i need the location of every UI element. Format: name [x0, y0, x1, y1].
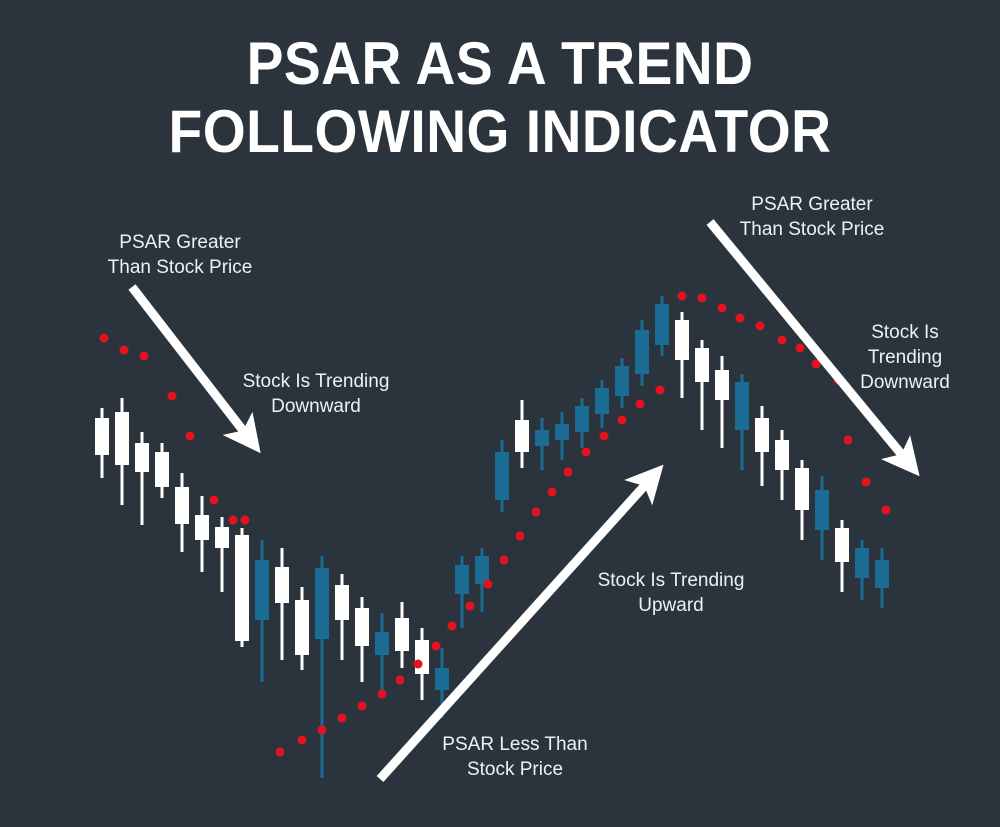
candlestick: [775, 430, 789, 500]
candlestick: [575, 398, 589, 448]
candle-body: [215, 527, 229, 548]
psar-dot: [500, 556, 509, 565]
candlestick: [275, 548, 289, 660]
candle-body: [595, 388, 609, 414]
candlestick: [355, 597, 369, 682]
annotation-line: PSAR Greater: [740, 192, 885, 217]
candle-body: [615, 366, 629, 396]
psar-dot: [844, 436, 853, 445]
psar-dot: [756, 322, 765, 331]
candle-body: [695, 348, 709, 382]
annotation-line: Than Stock Price: [740, 217, 885, 242]
candle-body: [715, 370, 729, 400]
candle-body: [815, 490, 829, 530]
candle-body: [675, 320, 689, 360]
candle-body: [555, 424, 569, 440]
candlestick: [335, 574, 349, 660]
psar-dot: [210, 496, 219, 505]
psar-dot: [378, 690, 387, 699]
candle-body: [575, 406, 589, 432]
candle-body: [435, 668, 449, 690]
psar-dot: [718, 304, 727, 313]
candle-body: [375, 632, 389, 655]
candlestick: [195, 496, 209, 572]
candle-body: [315, 568, 329, 639]
candle-body: [655, 304, 669, 345]
psar-dot: [229, 516, 238, 525]
psar-dot: [168, 392, 177, 401]
candlestick: [495, 440, 509, 512]
candle-body: [155, 452, 169, 487]
candle-body: [355, 608, 369, 646]
psar-dot: [396, 676, 405, 685]
candlestick: [715, 356, 729, 448]
annotation-trending-downward-right: Stock IsTrendingDownward: [860, 320, 950, 395]
psar-dot: [656, 386, 665, 395]
psar-dot: [678, 292, 687, 301]
psar-dot: [276, 748, 285, 757]
psar-dot: [448, 622, 457, 631]
candlestick: [595, 380, 609, 428]
candle-body: [175, 487, 189, 524]
candlestick: [815, 476, 829, 560]
candlestick: [315, 556, 329, 778]
psar-dot: [414, 660, 423, 669]
candle-body: [95, 418, 109, 455]
annotation-line: Downward: [860, 370, 950, 395]
candlestick: [875, 548, 889, 608]
annotation-line: Stock Is Trending: [243, 369, 390, 394]
candlestick-chart: [0, 0, 1000, 827]
candlestick: [375, 613, 389, 695]
psar-dot: [432, 642, 441, 651]
annotation-line: PSAR Less Than: [442, 732, 587, 757]
candlestick: [135, 432, 149, 525]
candlestick: [855, 540, 869, 600]
arrows-layer: [132, 222, 907, 779]
candle-body: [235, 535, 249, 641]
candle-body: [635, 330, 649, 374]
annotation-line: Stock Is Trending: [598, 568, 745, 593]
candlestick: [835, 520, 849, 592]
psar-dot: [600, 432, 609, 441]
candlestick: [795, 460, 809, 540]
candlestick: [695, 340, 709, 430]
annotation-line: Than Stock Price: [108, 255, 253, 280]
candlestick: [535, 418, 549, 470]
candle-body: [395, 618, 409, 651]
candlestick: [155, 443, 169, 498]
psar-dot: [120, 346, 129, 355]
candle-wick: [721, 356, 724, 448]
candle-body: [255, 560, 269, 620]
candle-body: [515, 420, 529, 452]
candlestick: [655, 296, 669, 356]
annotation-psar-less-than: PSAR Less ThanStock Price: [442, 732, 587, 782]
arrow-down-left: [132, 287, 249, 438]
annotation-line: Stock Is: [860, 320, 950, 345]
candle-body: [195, 515, 209, 540]
annotation-line: Trending: [860, 345, 950, 370]
candlestick: [115, 398, 129, 505]
psar-dot: [698, 294, 707, 303]
psar-dot: [636, 400, 645, 409]
candlestick: [255, 540, 269, 682]
candlestick: [615, 358, 629, 408]
candle-body: [835, 528, 849, 562]
psar-dot: [100, 334, 109, 343]
psar-dot: [318, 726, 327, 735]
candle-body: [535, 430, 549, 446]
psar-dot: [796, 344, 805, 353]
candle-body: [855, 548, 869, 578]
psar-dot: [582, 448, 591, 457]
candle-body: [795, 468, 809, 510]
candle-body: [135, 443, 149, 472]
candle-wick: [281, 548, 284, 660]
psar-dot: [484, 580, 493, 589]
annotation-psar-greater-left: PSAR GreaterThan Stock Price: [108, 230, 253, 280]
candlestick: [675, 312, 689, 398]
candle-body: [455, 565, 469, 594]
candlestick: [395, 602, 409, 668]
psar-dot: [358, 702, 367, 711]
candles-layer: [95, 296, 889, 778]
annotation-psar-greater-right: PSAR GreaterThan Stock Price: [740, 192, 885, 242]
candlestick: [215, 517, 229, 592]
psar-dot: [241, 516, 250, 525]
candle-body: [875, 560, 889, 588]
psar-dot: [466, 602, 475, 611]
candle-body: [415, 640, 429, 674]
candlestick: [755, 406, 769, 486]
candlestick: [635, 320, 649, 386]
candle-body: [755, 418, 769, 452]
candlestick: [295, 587, 309, 670]
candle-body: [335, 585, 349, 620]
candle-body: [495, 452, 509, 500]
candle-body: [275, 567, 289, 603]
psar-dot: [532, 508, 541, 517]
psar-dot: [882, 506, 891, 515]
annotation-line: Upward: [598, 593, 745, 618]
psar-dot: [778, 336, 787, 345]
psar-dot: [140, 352, 149, 361]
annotation-trending-upward: Stock Is TrendingUpward: [598, 568, 745, 618]
annotation-line: Stock Price: [442, 757, 587, 782]
psar-dot: [186, 432, 195, 441]
candle-body: [775, 440, 789, 470]
psar-dot: [548, 488, 557, 497]
candlestick: [555, 412, 569, 460]
psar-infographic: PSAR AS A TREND FOLLOWING INDICATOR PSAR…: [0, 0, 1000, 827]
psar-dot: [298, 736, 307, 745]
candle-body: [115, 412, 129, 465]
candlestick: [455, 556, 469, 628]
candle-body: [735, 382, 749, 430]
candle-body: [295, 600, 309, 655]
psar-dot: [516, 532, 525, 541]
candlestick: [515, 400, 529, 468]
candlestick: [95, 408, 109, 478]
psar-dot: [618, 416, 627, 425]
psar-dots-layer: [100, 292, 891, 757]
candlestick: [735, 374, 749, 470]
psar-dot: [862, 478, 871, 487]
psar-dot: [564, 468, 573, 477]
psar-dot: [338, 714, 347, 723]
annotation-trending-downward-left: Stock Is TrendingDownward: [243, 369, 390, 419]
annotation-line: PSAR Greater: [108, 230, 253, 255]
annotation-line: Downward: [243, 394, 390, 419]
candlestick: [175, 473, 189, 552]
psar-dot: [736, 314, 745, 323]
candlestick: [235, 528, 249, 647]
